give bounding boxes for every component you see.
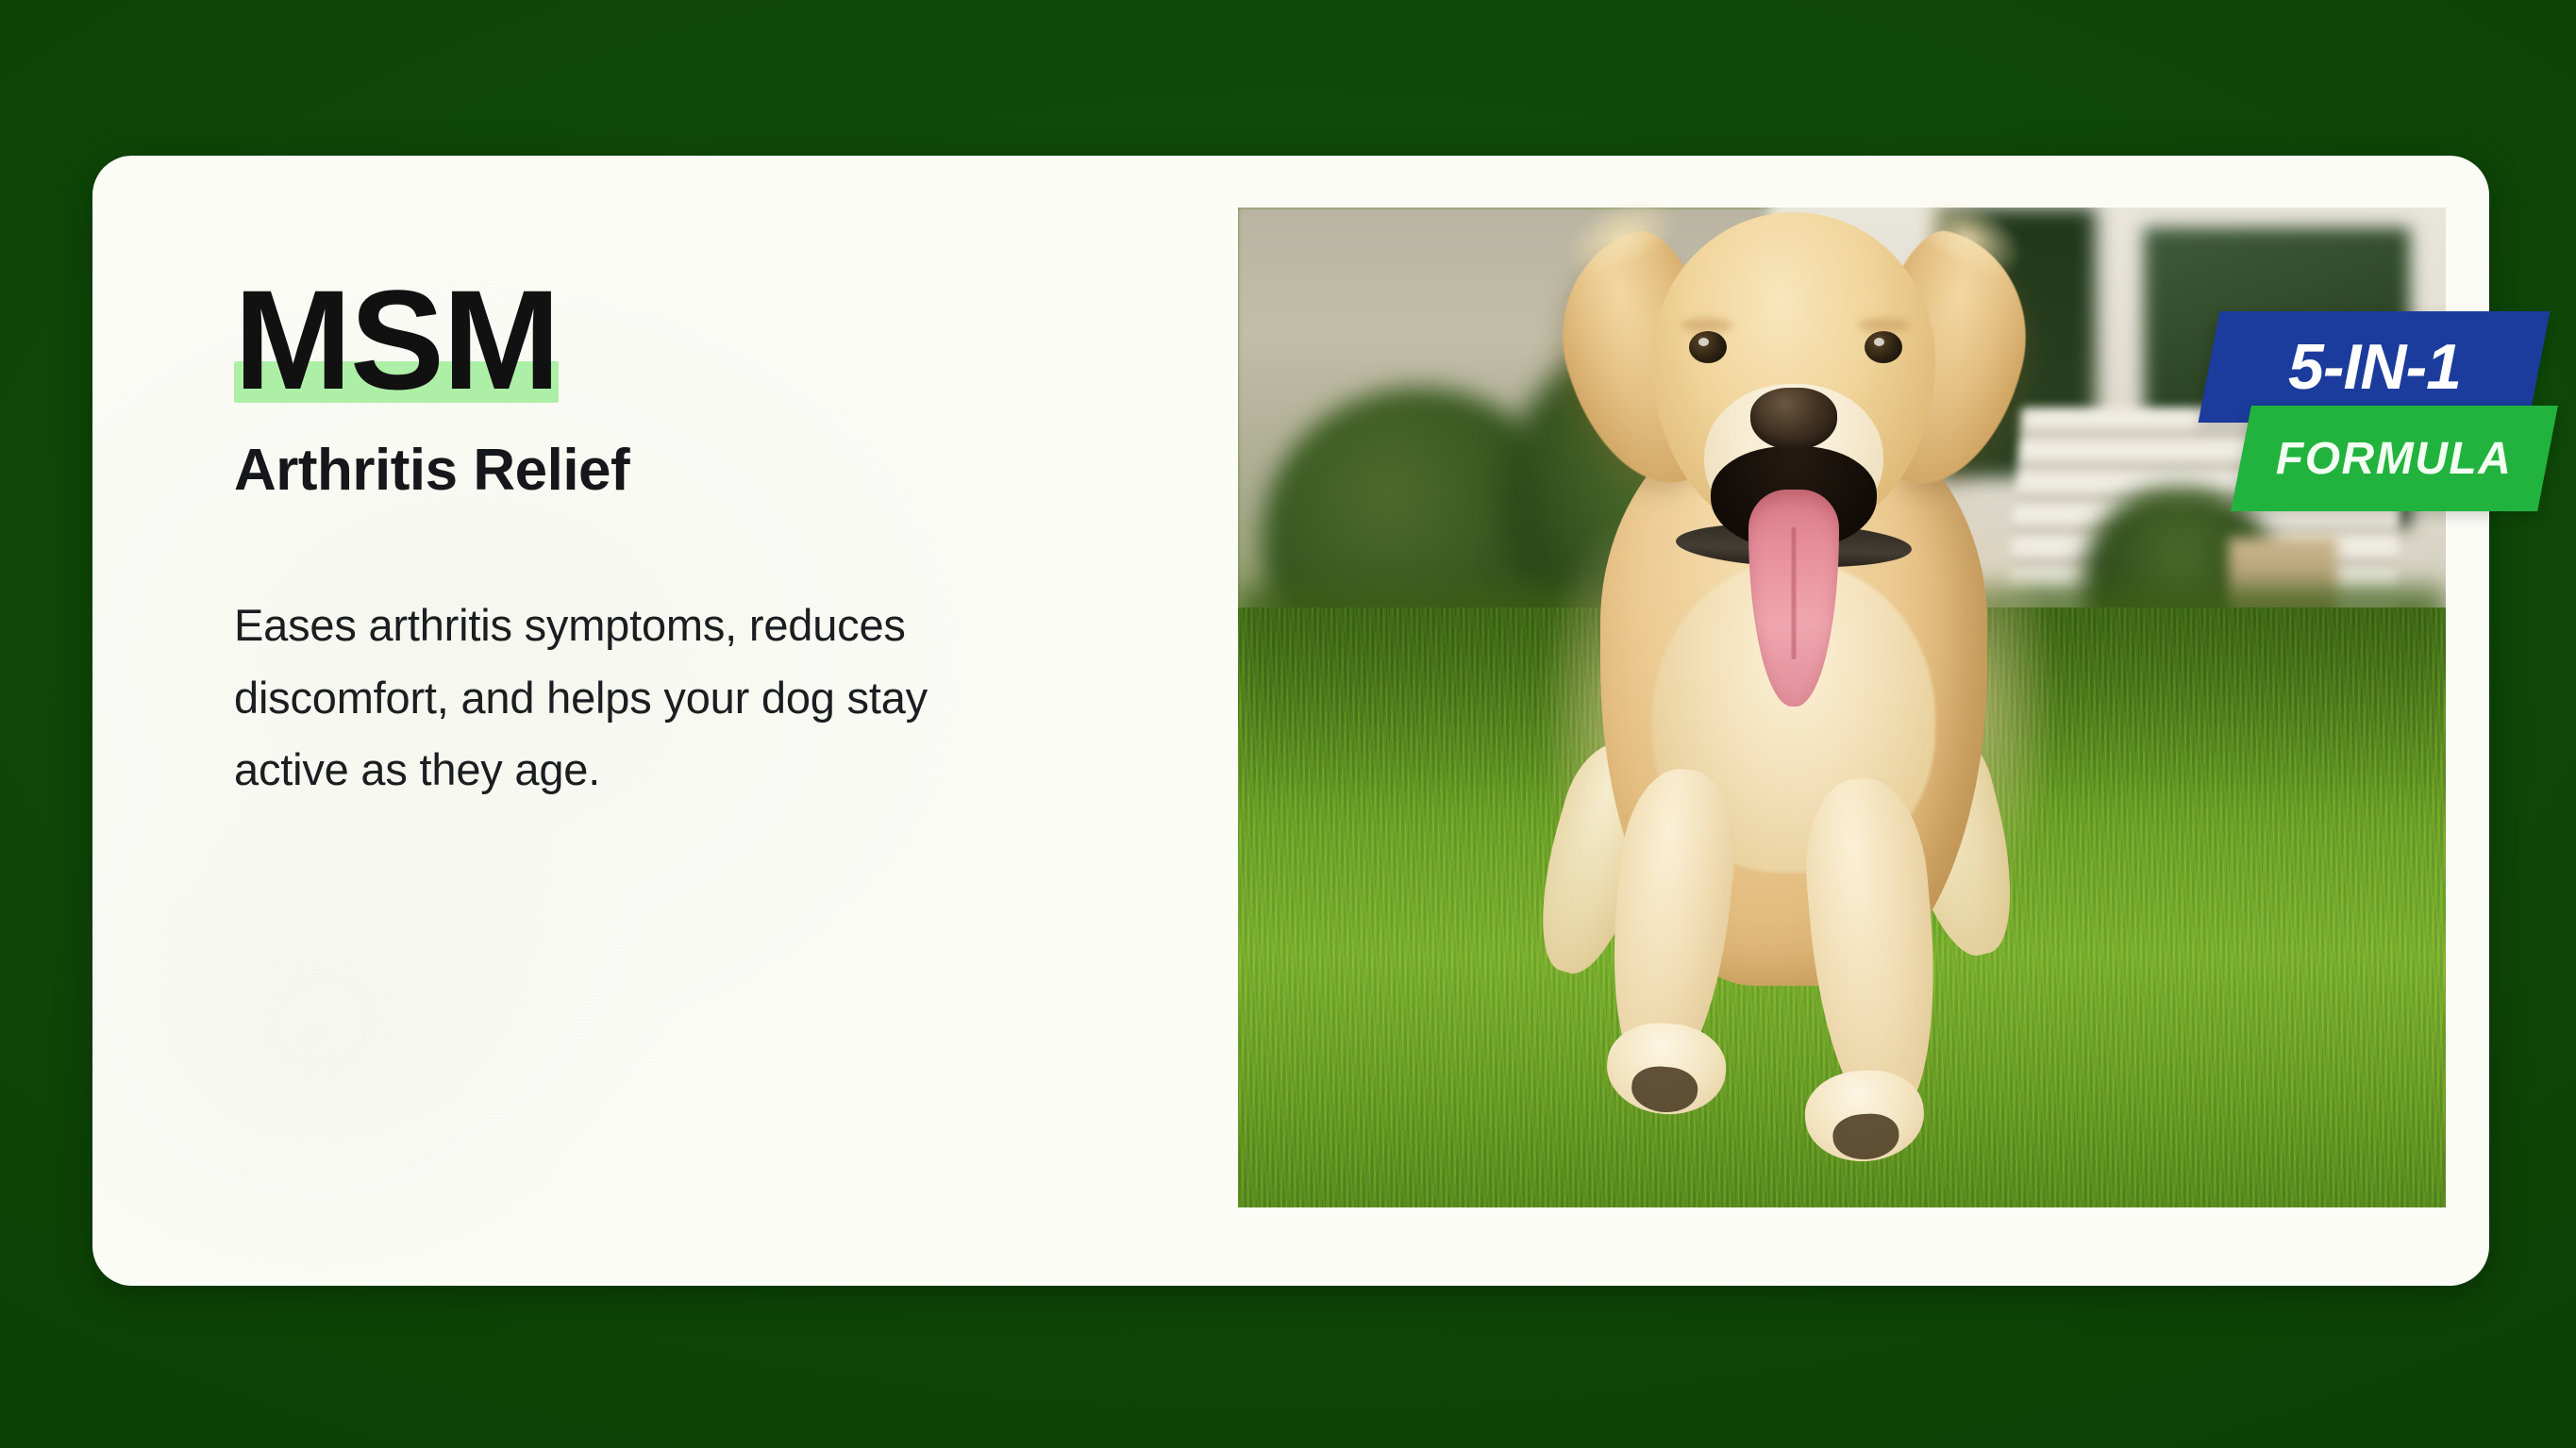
badge-count-label: 5-IN-1 — [2288, 330, 2461, 404]
badge-formula-label: FORMULA — [2276, 433, 2512, 485]
card-text-column: MSM Arthritis Relief Eases arthritis sym… — [234, 269, 1196, 851]
card-subtitle: Arthritis Relief — [234, 439, 1196, 503]
screenshot-stage: MSM Arthritis Relief Eases arthritis sym… — [0, 0, 2576, 1448]
badge-chip-formula: FORMULA — [2231, 406, 2558, 511]
product-image-panel: 5-IN-1 FORMULA — [1238, 208, 2446, 1207]
product-benefit-card: MSM Arthritis Relief Eases arthritis sym… — [92, 156, 2489, 1286]
formula-badge: 5-IN-1 FORMULA — [2209, 311, 2576, 557]
card-body-text: Eases arthritis symptoms, reduces discom… — [234, 590, 998, 807]
title-with-highlight: MSM — [234, 269, 559, 410]
page-title: MSM — [234, 269, 559, 410]
scene-grass-texture — [1238, 607, 2446, 1207]
